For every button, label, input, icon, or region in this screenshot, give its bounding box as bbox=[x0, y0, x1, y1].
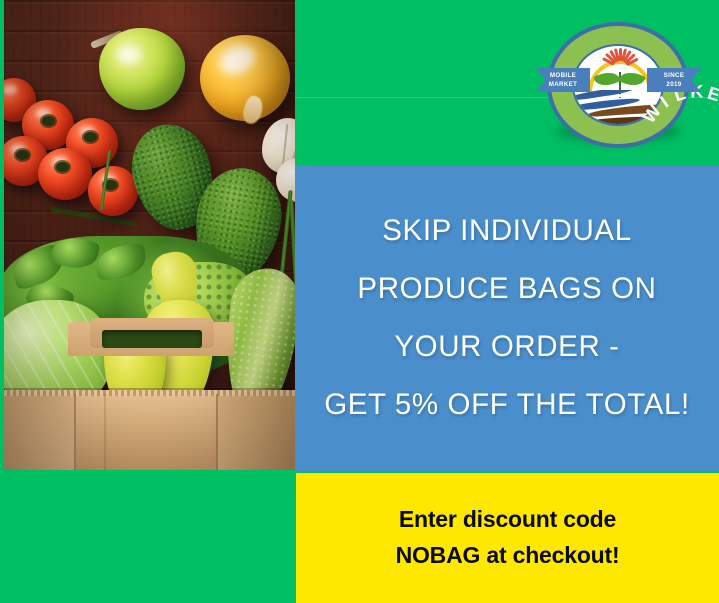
headline-line-2: PRODUCE BAGS ON bbox=[324, 260, 690, 318]
headline-text: SKIP INDIVIDUAL PRODUCE BAGS ON YOUR ORD… bbox=[324, 202, 690, 434]
paper-bag-fold bbox=[216, 394, 218, 470]
tomato-calyx bbox=[16, 150, 29, 160]
logo-left-banner-text: MOBILE MARKET bbox=[536, 72, 590, 90]
headline-panel: SKIP INDIVIDUAL PRODUCE BAGS ON YOUR ORD… bbox=[295, 165, 719, 471]
headline-line-3: YOUR ORDER - bbox=[324, 318, 690, 376]
headline-line-4: GET 5% OFF THE TOTAL! bbox=[324, 376, 690, 434]
promo-poster: WILKES FRESH MOBILE MARKET SINCE 2019 SK… bbox=[0, 0, 719, 603]
apple-highlight bbox=[116, 48, 142, 64]
subline-line-2: NOBAG at checkout! bbox=[396, 538, 620, 574]
logo-right-banner-text: SINCE 2019 bbox=[647, 72, 701, 90]
paper-bag-serrated-edge bbox=[4, 390, 295, 396]
tomato-calyx bbox=[84, 132, 97, 142]
subline-line-1: Enter discount code bbox=[396, 502, 620, 538]
paper-bag-right-gusset bbox=[216, 390, 295, 470]
paper-bag-fold bbox=[104, 394, 106, 470]
paper-bag-handle-hole bbox=[102, 330, 202, 348]
discount-code-text: Enter discount code NOBAG at checkout! bbox=[396, 502, 620, 573]
paper-bag-left-gusset bbox=[4, 390, 76, 470]
discount-code-panel: Enter discount code NOBAG at checkout! bbox=[296, 473, 719, 603]
tomato bbox=[38, 148, 92, 200]
field-rows-icon bbox=[574, 90, 664, 124]
logo-left-banner: MOBILE MARKET bbox=[536, 68, 590, 92]
fresh-produce-photo bbox=[4, 0, 295, 470]
tomato-calyx bbox=[42, 116, 55, 126]
tomato bbox=[88, 166, 138, 216]
logo-right-banner: SINCE 2019 bbox=[647, 68, 701, 92]
wilkes-fresh-logo: WILKES FRESH MOBILE MARKET SINCE 2019 bbox=[539, 22, 697, 148]
tomato-calyx bbox=[56, 162, 69, 172]
headline-line-1: SKIP INDIVIDUAL bbox=[324, 202, 690, 260]
logo-top-arc-letter: E bbox=[705, 83, 719, 107]
paper-bag-fold bbox=[74, 394, 76, 470]
